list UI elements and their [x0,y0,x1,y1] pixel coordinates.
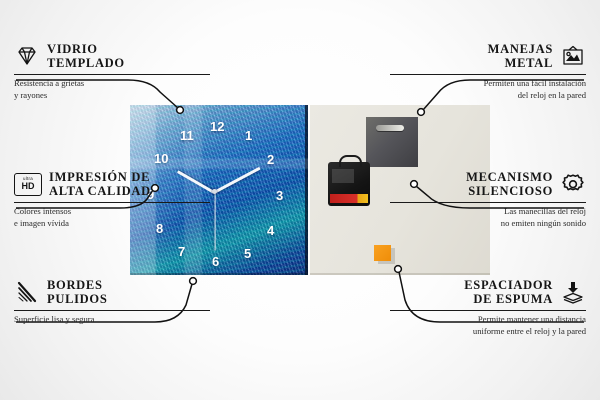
feature-subtitle: Resistencia a grietas y rayones [14,78,210,101]
feature-title-line2: ALTA CALIDAD [49,184,151,198]
feature-manejas-metal: MANEJAS METAL Permiten una fácil instala… [390,42,586,101]
feature-title-line1: MANEJAS [488,42,553,56]
feature-subtitle: Colores intensos e imagen vívida [14,206,210,229]
feature-title: IMPRESIÓN DE ALTA CALIDAD [49,170,151,198]
foam-spacer-icon [560,280,586,304]
clock-numeral-5: 5 [244,247,251,260]
feature-impresion-alta-calidad: ultra HD IMPRESIÓN DE ALTA CALIDAD Color… [14,170,210,229]
feature-title-line1: VIDRIO [47,42,125,56]
feature-vidrio-templado: VIDRIO TEMPLADO Resistencia a grietas y … [14,42,210,101]
feature-mecanismo-silencioso: MECANISMO SILENCIOSO Las manecillas del … [390,170,586,229]
clock-numeral-1: 1 [245,129,252,142]
feature-divider [390,202,586,203]
feature-subtitle: Permite mantener una distancia uniforme … [390,314,586,337]
clock-numeral-3: 3 [276,189,283,202]
feature-header: VIDRIO TEMPLADO [14,42,210,70]
feature-bordes-pulidos: BORDES PULIDOS Superficie lisa y segura [14,278,210,326]
feature-subtitle-line1: Permite mantener una distancia [390,314,586,325]
picture-frame-hanger-icon [560,44,586,68]
clock-center-pivot [212,189,217,194]
mechanism-red-label [330,194,368,203]
clock-numeral-10: 10 [154,152,168,165]
hanger-slot [376,125,404,131]
clock-numeral-7: 7 [178,245,185,258]
clock-minute-hand [213,167,260,194]
feature-title: BORDES PULIDOS [47,278,107,306]
feature-espaciador-espuma: ESPACIADOR DE ESPUMA Permite mantener un… [390,278,586,337]
feature-subtitle-line1: Colores intensos [14,206,210,217]
feature-subtitle: Las manecillas del reloj no emiten ningú… [390,206,586,229]
feature-divider [14,310,210,311]
feature-title-line1: ESPACIADOR [464,278,553,292]
gear-icon [560,172,586,196]
feature-divider [14,202,210,203]
feature-subtitle-line2: del reloj en la pared [390,90,586,101]
feature-subtitle-line2: no emiten ningún sonido [390,218,586,229]
clock-numeral-6: 6 [212,255,219,268]
clock-second-hand [214,193,215,251]
feature-title-line2: PULIDOS [47,292,107,306]
infographic-canvas: 12 1 2 3 4 5 6 7 8 9 10 11 [0,0,600,400]
feature-title: ESPACIADOR DE ESPUMA [464,278,553,306]
ultra-hd-icon-large-text: HD [22,182,35,191]
mechanism-label-plate [332,169,354,183]
feature-subtitle-line2: e imagen vívida [14,218,210,229]
feature-title-line2: DE ESPUMA [464,292,553,306]
clock-numeral-12: 12 [210,120,224,133]
feature-title: MECANISMO SILENCIOSO [466,170,553,198]
feature-subtitle-line2: y rayones [14,90,210,101]
feature-title-line2: TEMPLADO [47,56,125,70]
feature-subtitle: Superficie lisa y segura [14,314,210,325]
feature-divider [390,310,586,311]
feature-subtitle: Permiten una fácil instalación del reloj… [390,78,586,101]
polished-edges-icon [14,280,40,304]
feature-subtitle-line2: uniforme entre el reloj y la pared [390,326,586,337]
feature-subtitle-line1: Permiten una fácil instalación [390,78,586,89]
feature-header: MANEJAS METAL [390,42,586,70]
clock-numeral-2: 2 [267,153,274,166]
ultra-hd-icon: ultra HD [14,173,42,196]
feature-title-line1: IMPRESIÓN DE [49,170,151,184]
diamond-icon [14,44,40,68]
clock-numeral-11: 11 [180,129,194,142]
feature-title-line2: SILENCIOSO [466,184,553,198]
feature-header: ESPACIADOR DE ESPUMA [390,278,586,306]
feature-subtitle-line1: Superficie lisa y segura [14,314,210,325]
feature-header: MECANISMO SILENCIOSO [390,170,586,198]
feature-title: VIDRIO TEMPLADO [47,42,125,70]
mechanism-hook [339,155,362,167]
feature-subtitle-line1: Las manecillas del reloj [390,206,586,217]
feature-title: MANEJAS METAL [488,42,553,70]
feature-title-line2: METAL [488,56,553,70]
feature-header: ultra HD IMPRESIÓN DE ALTA CALIDAD [14,170,210,198]
metal-hanger-plate [366,117,418,167]
feature-divider [390,74,586,75]
clock-numeral-4: 4 [267,224,274,237]
feature-subtitle-line1: Resistencia a grietas [14,78,210,89]
feature-title-line1: MECANISMO [466,170,553,184]
feature-header: BORDES PULIDOS [14,278,210,306]
silent-clock-mechanism [328,162,370,206]
feature-divider [14,74,210,75]
feature-title-line1: BORDES [47,278,107,292]
foam-spacer [374,245,391,261]
